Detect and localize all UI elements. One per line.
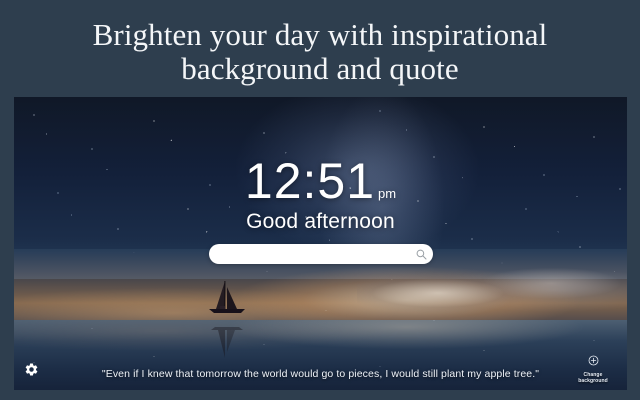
clock-ampm: pm — [378, 186, 396, 201]
sailboat-silhouette — [201, 279, 253, 323]
change-background-label-line-2: background — [565, 378, 621, 384]
change-background-button[interactable]: Change background — [565, 353, 621, 384]
search-input[interactable] — [209, 244, 411, 264]
promo-headline-line-2: background and quote — [0, 52, 640, 86]
plus-circle-icon[interactable] — [565, 353, 621, 371]
clock: 12:51pm Good afternoon — [14, 156, 627, 234]
newtab-preview-frame: 12:51pm Good afternoon "Even if I knew t… — [14, 97, 627, 390]
inspirational-quote: "Even if I knew that tomorrow the world … — [14, 368, 627, 380]
search-icon[interactable] — [411, 244, 433, 264]
search-bar[interactable] — [209, 244, 433, 264]
greeting-text: Good afternoon — [14, 210, 627, 234]
clock-time: 12:51 — [245, 156, 375, 206]
sailboat-reflection — [201, 320, 253, 360]
promo-headline: Brighten your day with inspirational bac… — [0, 18, 640, 86]
promo-headline-line-1: Brighten your day with inspirational — [0, 18, 640, 52]
